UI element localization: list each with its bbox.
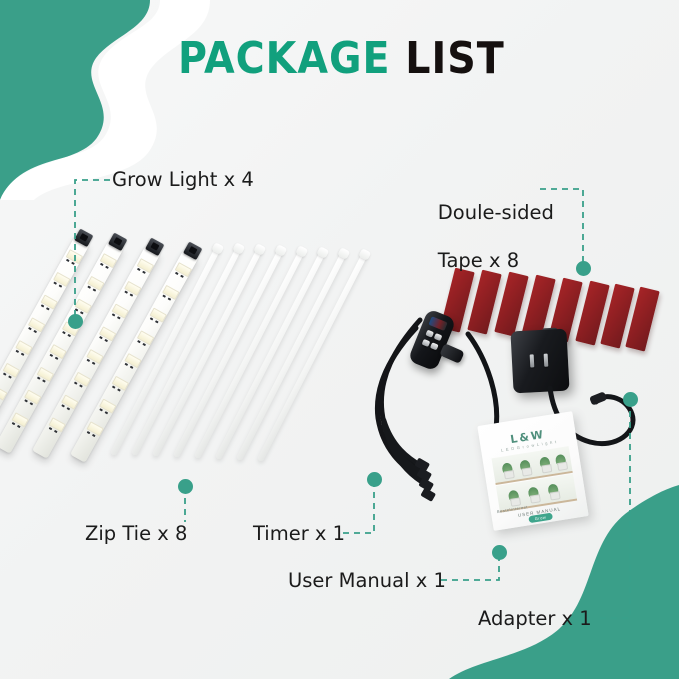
strip-connector (74, 228, 93, 247)
adapter-prong (530, 354, 535, 367)
user-manual-booklet: L&W L E D G r o w L i g h t Bestelintere… (477, 411, 588, 531)
callout-label-double-tape: Doule-sided Tape x 8 (413, 177, 554, 297)
timer-button (422, 339, 431, 347)
callout-label-user-manual: User Manual x 1 (288, 569, 446, 592)
callout-label-grow-light: Grow Light x 4 (112, 168, 254, 191)
manual-plant (554, 454, 568, 472)
leader-dot-adapter (623, 392, 638, 407)
title-dark-word: LIST (405, 33, 504, 84)
timer-display (429, 316, 448, 331)
title-accent-word: PACKAGE (178, 33, 391, 84)
power-adapter (510, 329, 569, 394)
callout-label-zip-tie: Zip Tie x 8 (85, 522, 187, 545)
manual-plant (501, 462, 515, 480)
zip-tie (257, 253, 368, 462)
leader-dot-timer (367, 472, 382, 487)
zip-tie (236, 252, 347, 461)
callout-label-timer: Timer x 1 (253, 522, 345, 545)
strip-connector (108, 232, 127, 251)
strip-connector (145, 237, 164, 256)
leader-dot-tape (576, 261, 591, 276)
callout-label-double-tape-line1: Doule-sided (438, 201, 554, 224)
timer-dc-plug (439, 343, 464, 364)
strip-connector (183, 241, 202, 260)
callout-label-adapter: Adapter x 1 (478, 607, 592, 630)
timer-controller (408, 308, 457, 371)
timer-button (425, 330, 434, 338)
manual-plant (527, 486, 541, 504)
callout-label-double-tape-line2: Tape x 8 (438, 249, 519, 272)
adapter-prong (544, 354, 549, 367)
leader-dot-grow-light (68, 314, 83, 329)
manual-plant (538, 456, 552, 474)
manual-plant (518, 459, 532, 477)
infographic-canvas: PACKAGE LIST (0, 0, 679, 679)
timer-button (434, 333, 443, 341)
page-title: PACKAGE LIST (178, 33, 505, 84)
timer-button (430, 342, 439, 350)
leader-dot-user-manual (492, 545, 507, 560)
leader-dot-zip-tie (178, 479, 193, 494)
manual-plant (546, 483, 560, 501)
